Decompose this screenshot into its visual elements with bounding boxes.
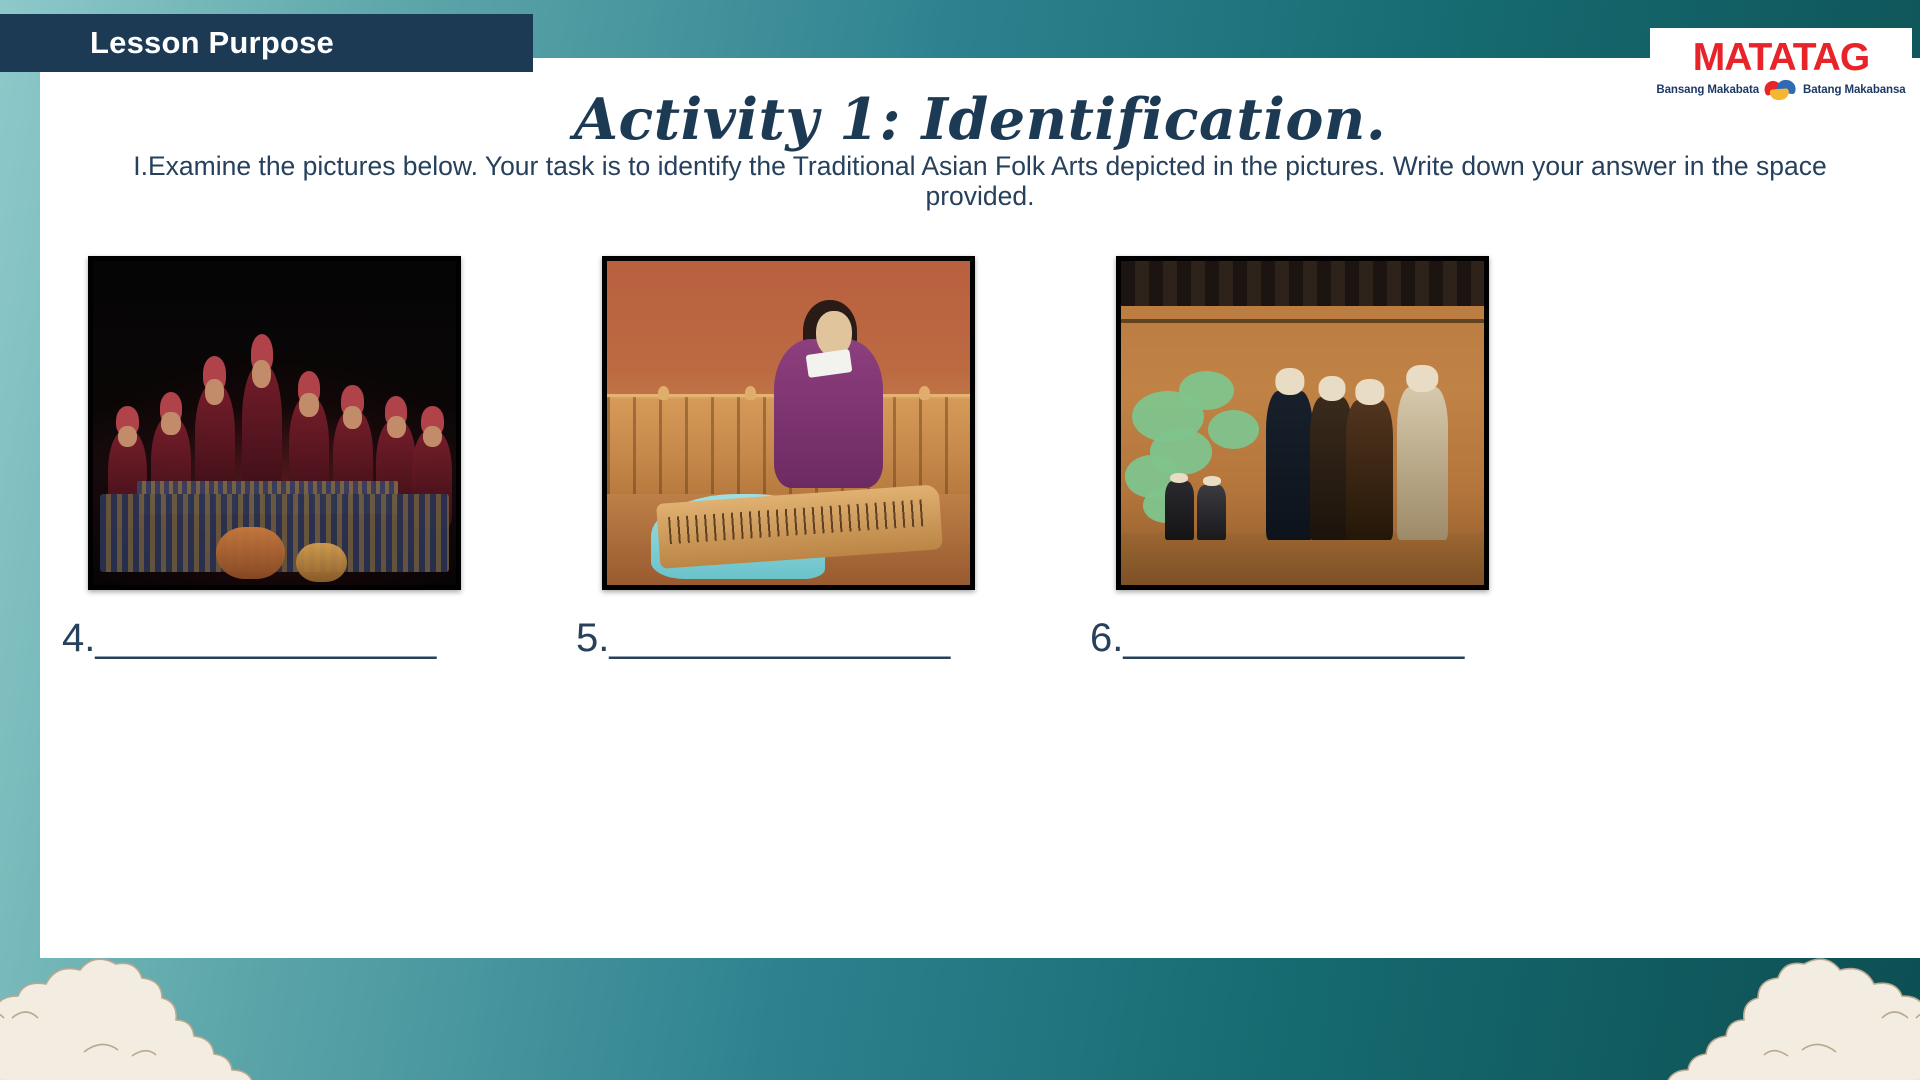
answers-row: 4. ________________ 5. ________________ … bbox=[40, 618, 1920, 658]
photo-frame-5 bbox=[602, 256, 975, 590]
clasped-hands-heart-icon bbox=[1764, 80, 1798, 100]
answer-blank-4[interactable]: ________________ bbox=[95, 618, 435, 658]
slide-canvas: Activity 1: Identification. I.Examine th… bbox=[0, 0, 1920, 1080]
answer-number-6: 6. bbox=[1090, 618, 1123, 658]
answer-item-6[interactable]: 6. ________________ bbox=[1090, 618, 1463, 658]
lesson-purpose-banner: Lesson Purpose bbox=[0, 14, 533, 72]
tagline-left-text: Bansang Makabata bbox=[1656, 84, 1759, 96]
noh-theater-image bbox=[1121, 261, 1484, 585]
picture-cell-4 bbox=[88, 256, 461, 590]
answer-number-5: 5. bbox=[576, 618, 609, 658]
content-card: Activity 1: Identification. I.Examine th… bbox=[40, 58, 1920, 958]
lesson-purpose-label: Lesson Purpose bbox=[90, 25, 334, 61]
answer-item-4[interactable]: 4. ________________ bbox=[62, 618, 435, 658]
picture-cell-5 bbox=[602, 256, 975, 590]
photo-frame-4 bbox=[88, 256, 461, 590]
gamelan-ensemble-image bbox=[93, 261, 456, 585]
answer-blank-6[interactable]: ________________ bbox=[1123, 618, 1463, 658]
matatag-wordmark: MATATAG bbox=[1693, 38, 1869, 77]
picture-row bbox=[40, 256, 1920, 590]
tagline-right-text: Batang Makabansa bbox=[1803, 84, 1906, 96]
answer-number-4: 4. bbox=[62, 618, 95, 658]
matatag-logo: MATATAG Bansang Makabata Batang Makabans… bbox=[1650, 28, 1912, 108]
picture-cell-6 bbox=[1116, 256, 1489, 590]
photo-frame-6 bbox=[1116, 256, 1489, 590]
answer-item-5[interactable]: 5. ________________ bbox=[576, 618, 949, 658]
instruction-text: I.Examine the pictures below. Your task … bbox=[82, 152, 1878, 212]
answer-blank-5[interactable]: ________________ bbox=[609, 618, 949, 658]
matatag-tagline: Bansang Makabata Batang Makabansa bbox=[1656, 80, 1905, 100]
page-title: Activity 1: Identification. bbox=[40, 86, 1920, 153]
gayageum-player-image bbox=[607, 261, 970, 585]
